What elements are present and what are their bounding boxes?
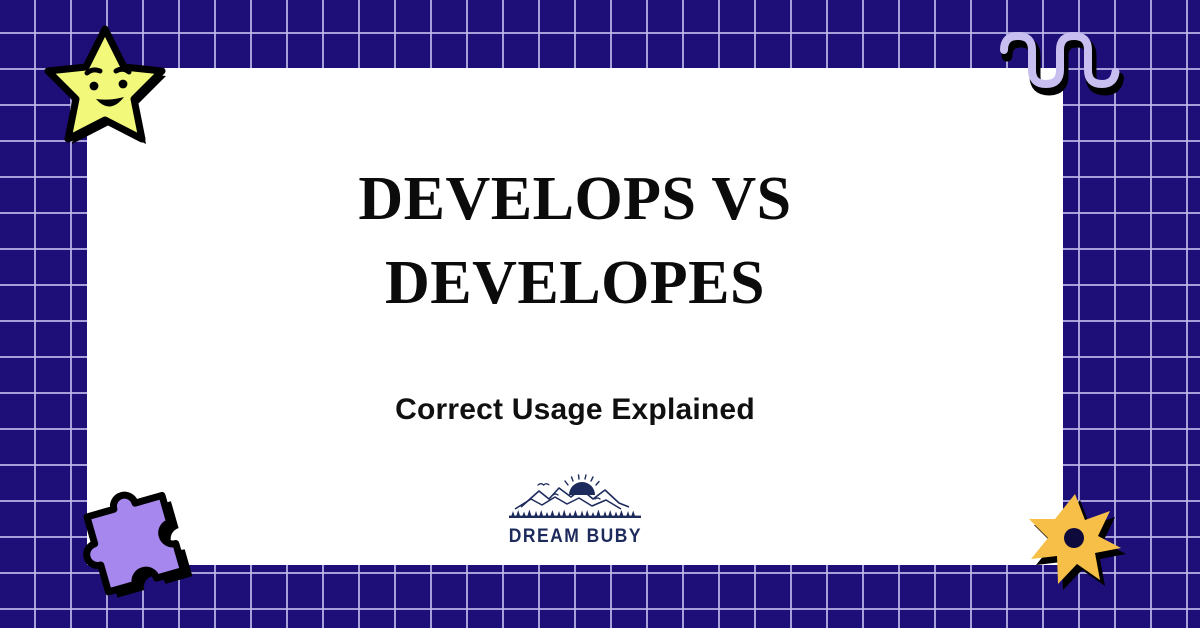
mountain-sunrise-logo-icon bbox=[509, 473, 641, 524]
smiley-star-icon bbox=[46, 22, 164, 142]
brand-wordmark: DREAM BUBY bbox=[508, 526, 641, 548]
page-title-line-2: DEVELOPES bbox=[147, 242, 1003, 326]
social-card-canvas: DEVELOPS VS DEVELOPES Correct Usage Expl… bbox=[0, 0, 1200, 628]
starburst-icon bbox=[1023, 487, 1127, 591]
brand-logo: DREAM BUBY bbox=[495, 473, 655, 548]
puzzle-piece-icon bbox=[72, 481, 200, 609]
page-title: DEVELOPS VS DEVELOPES bbox=[87, 158, 1063, 325]
page-title-line-1: DEVELOPS VS bbox=[147, 158, 1003, 242]
page-subtitle: Correct Usage Explained bbox=[87, 393, 1063, 427]
content-card: DEVELOPS VS DEVELOPES Correct Usage Expl… bbox=[87, 68, 1063, 565]
squiggle-wave-icon bbox=[994, 28, 1124, 94]
